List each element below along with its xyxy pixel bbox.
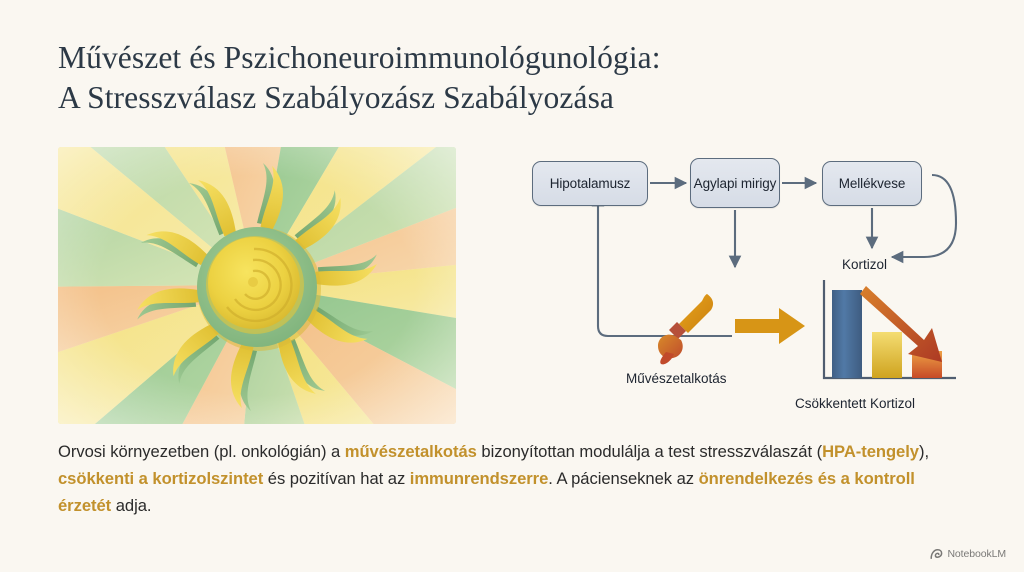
body-highlight: HPA-tengely <box>822 442 919 461</box>
body-segment: . A pácienseknek az <box>548 469 698 488</box>
cortisol-bar-chart <box>812 278 960 390</box>
orange-flow-arrow <box>735 305 807 347</box>
page-title: Művészet és Pszichoneuroimmunológunológi… <box>58 38 938 118</box>
body-highlight: művészetalkotás <box>345 442 477 461</box>
body-segment: ), <box>919 442 929 461</box>
watermark-label: NotebookLM <box>947 548 1006 560</box>
chart-axis-label-csokkentett-kortizol: Csökkentett Kortizol <box>795 396 915 411</box>
diagram-node-mellekvese[interactable]: Mellékvese <box>822 161 922 206</box>
paintbrush-icon <box>655 292 733 367</box>
diagram-node-agylapi-mirigy[interactable]: Agylapi mirigy <box>690 158 780 208</box>
body-highlight: immunrendszerre <box>410 469 549 488</box>
diagram-label-kortizol: Kortizol <box>842 257 887 272</box>
notebooklm-logo-icon <box>930 548 943 560</box>
body-segment: Orvosi környezetben (pl. onkológián) a <box>58 442 345 461</box>
body-segment: és pozitívan hat az <box>263 469 410 488</box>
body-segment: bizonyítottan modulálja a test stresszvá… <box>477 442 822 461</box>
node-label: Hipotalamusz <box>550 176 631 191</box>
body-highlight: csökkenti a kortizolszintet <box>58 469 263 488</box>
diagram-node-hipotalamusz[interactable]: Hipotalamusz <box>532 161 648 206</box>
body-segment: adja. <box>111 496 151 515</box>
body-paragraph: Orvosi környezetben (pl. onkológián) a m… <box>58 438 968 519</box>
node-label: Mellékvese <box>839 176 906 191</box>
diagram-label-muveszetalkotas: Művészetalkotás <box>626 371 727 386</box>
papercraft-sun-illustration <box>58 147 456 424</box>
notebooklm-watermark: NotebookLM <box>930 548 1006 560</box>
node-label: Agylapi mirigy <box>694 176 777 191</box>
